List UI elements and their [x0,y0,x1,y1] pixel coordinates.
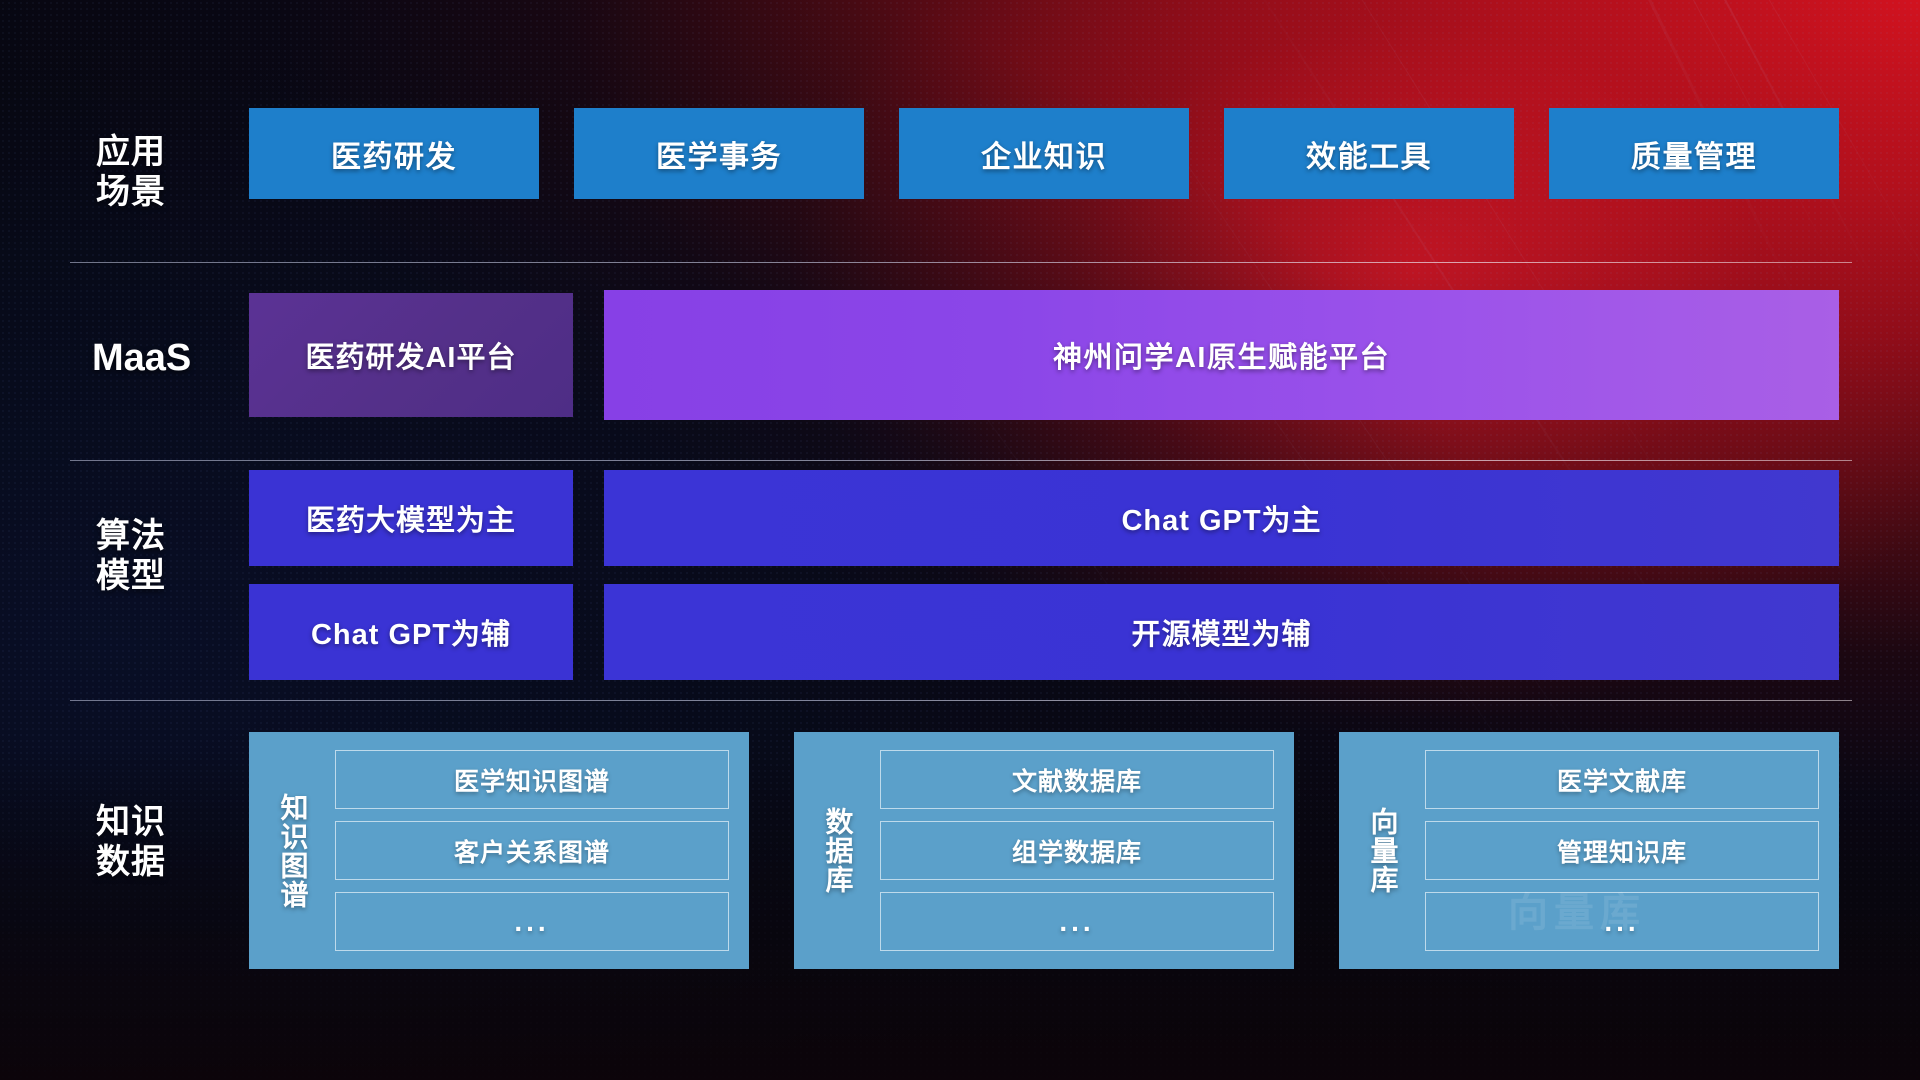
knowledge-panel-title: 向量库 [1355,750,1411,951]
knowledge-panel-title: 数据库 [810,750,866,951]
app-box-2[interactable]: 医学事务 [574,108,864,199]
knowledge-panel-chip-list: 文献数据库 组学数据库 ... [880,750,1274,951]
row-label-algorithm-model: 算法 模型 [96,516,246,596]
knowledge-chip[interactable]: 组学数据库 [880,821,1274,880]
algo-box-right-1[interactable]: Chat GPT为主 [604,470,1839,566]
knowledge-chip-more[interactable]: ... [1425,892,1819,951]
row-label-maas: MaaS [92,336,272,381]
app-box-4[interactable]: 效能工具 [1224,108,1514,199]
maas-box-shenzhou-platform[interactable]: 神州问学AI原生赋能平台 [604,290,1839,420]
knowledge-chip-more[interactable]: ... [880,892,1274,951]
divider-row1 [70,262,1852,263]
divider-row2 [70,460,1852,461]
row-label-knowledge-data: 知识 数据 [96,802,246,882]
algo-box-left-2[interactable]: Chat GPT为辅 [249,584,573,680]
algo-box-left-1[interactable]: 医药大模型为主 [249,470,573,566]
divider-row3 [70,700,1852,701]
maas-box-pharma-ai-platform[interactable]: 医药研发AI平台 [249,293,573,417]
knowledge-panel-database[interactable]: 数据库 文献数据库 组学数据库 ... [794,732,1294,969]
knowledge-panel-vector-store[interactable]: 向量库 医学文献库 管理知识库 ... [1339,732,1839,969]
knowledge-chip[interactable]: 文献数据库 [880,750,1274,809]
row-label-application-scenarios: 应用 场景 [96,132,246,212]
knowledge-chip[interactable]: 医学知识图谱 [335,750,729,809]
app-box-5[interactable]: 质量管理 [1549,108,1839,199]
knowledge-chip[interactable]: 客户关系图谱 [335,821,729,880]
knowledge-chip[interactable]: 医学文献库 [1425,750,1819,809]
app-box-3[interactable]: 企业知识 [899,108,1189,199]
knowledge-panel-chip-list: 医学文献库 管理知识库 ... [1425,750,1819,951]
knowledge-panel-knowledge-graph[interactable]: 知识图谱 医学知识图谱 客户关系图谱 ... [249,732,749,969]
knowledge-panel-title: 知识图谱 [265,750,321,951]
app-box-1[interactable]: 医药研发 [249,108,539,199]
algo-box-right-2[interactable]: 开源模型为辅 [604,584,1839,680]
knowledge-panel-chip-list: 医学知识图谱 客户关系图谱 ... [335,750,729,951]
knowledge-chip-more[interactable]: ... [335,892,729,951]
knowledge-chip[interactable]: 管理知识库 [1425,821,1819,880]
